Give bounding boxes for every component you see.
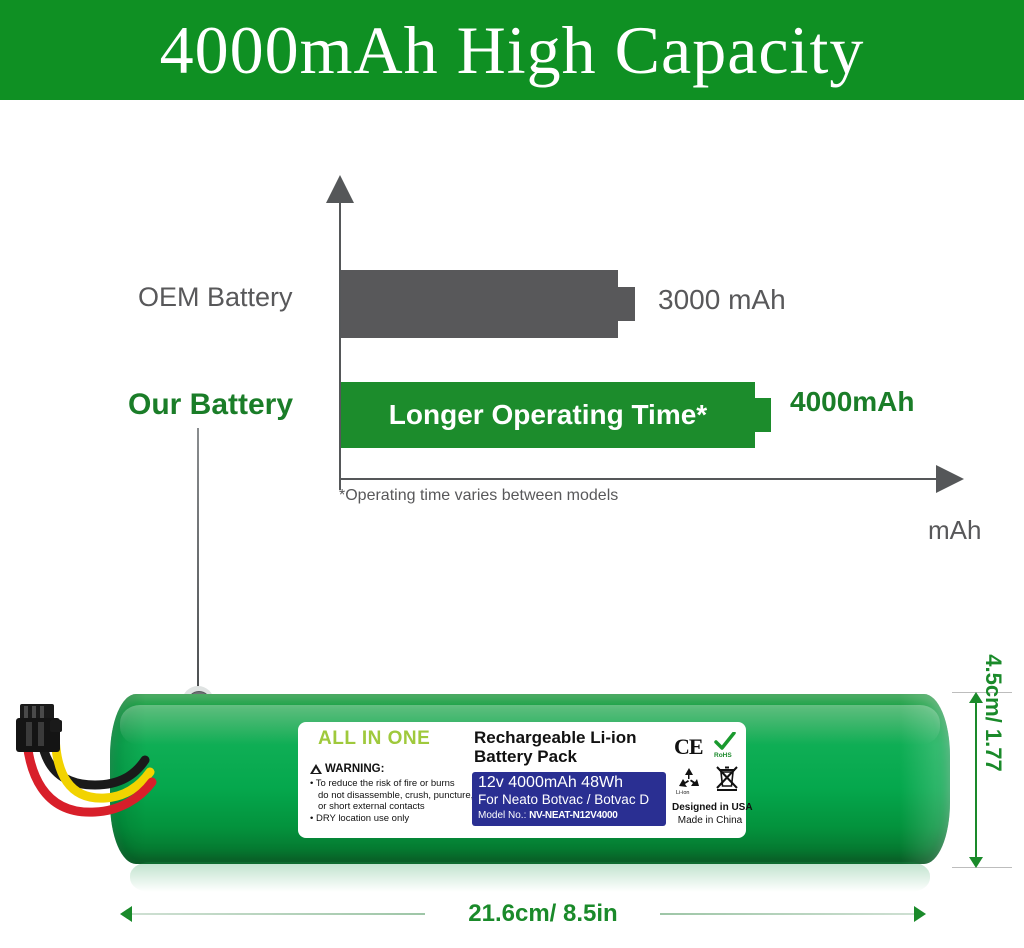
chart-footnote: *Operating time varies between models [339,487,618,505]
x-axis-arrow-icon [936,465,964,493]
header-banner: 4000mAh High Capacity [0,0,1024,100]
width-dimension-label: 21.6cm/ 8.5in [430,900,656,928]
width-dimension-line-right [660,913,918,915]
warning-line-2: do not disassemble, crush, puncture, [310,790,490,802]
battery-connector-plug-icon [14,700,66,768]
battery-reflection [130,862,930,892]
oem-battery-bar [341,270,618,338]
y-axis-arrow-icon [326,175,354,203]
width-arrow-right-icon [914,906,926,922]
x-axis-label: mAh [928,515,981,546]
warning-text-block: To reduce the risk of fire or burns do n… [310,778,490,824]
warning-heading: WARNING: [325,763,384,775]
product-label: ALL IN ONE WARNING: To reduce the risk o… [298,722,746,838]
product-type-line-1: Rechargeable Li-ion [474,728,664,747]
warning-line-1: To reduce the risk of fire or burns [310,778,490,790]
recycle-label: Li-ion [676,790,689,796]
spec-model-row: Model No.: NV-NEAT-N12V4000 [478,810,618,821]
ce-mark-icon: CE [674,734,703,760]
recycle-icon [676,766,702,792]
our-battery-value: 4000mAh [790,386,915,418]
width-dimension-line-left [130,913,425,915]
product-type-title: Rechargeable Li-ion Battery Pack [474,728,664,766]
model-number: NV-NEAT-N12V4000 [529,810,617,821]
weee-crossed-bin-icon [714,764,740,792]
spec-compatibility: For Neato Botvac / Botvac D [478,792,649,807]
height-dimension-line [975,700,977,860]
product-infographic: 4000mAh High Capacity OEM Battery 3000 m… [0,0,1024,948]
certification-marks: CE RoHS Li-ion Designed in USA Made in C [674,728,744,832]
model-prefix: Model No.: [478,810,526,821]
our-battery-label: Our Battery [128,388,293,422]
oem-battery-label: OEM Battery [138,282,328,313]
rohs-check-icon [714,732,736,752]
product-type-line-2: Battery Pack [474,747,664,766]
height-arrow-bottom-icon [969,857,983,868]
our-battery-terminal-icon [754,398,771,432]
warning-line-3: or short external contacts [310,801,490,813]
x-axis-line [339,478,939,480]
spec-box: 12v 4000mAh 48Wh For Neato Botvac / Botv… [472,772,666,826]
rohs-label: RoHS [714,752,732,759]
our-battery-bar-text: Longer Operating Time* [341,382,755,448]
designed-in-text: Designed in USA [672,802,748,813]
height-dimension-label: 4.5cm/ 1.77 [980,633,1006,793]
width-arrow-left-icon [120,906,132,922]
spec-capacity: 12v 4000mAh 48Wh [478,774,623,792]
oem-battery-terminal-icon [617,287,635,321]
capacity-comparison-chart: OEM Battery 3000 mAh Our Battery Longer … [0,100,1024,560]
callout-leader-line [197,428,199,700]
warning-line-4: DRY location use only [310,813,490,825]
brand-name: ALL IN ONE [318,728,430,750]
warning-triangle-inner [313,768,319,773]
made-in-text: Made in China [672,815,748,826]
page-title: 4000mAh High Capacity [0,0,1024,100]
oem-battery-value: 3000 mAh [658,284,786,316]
